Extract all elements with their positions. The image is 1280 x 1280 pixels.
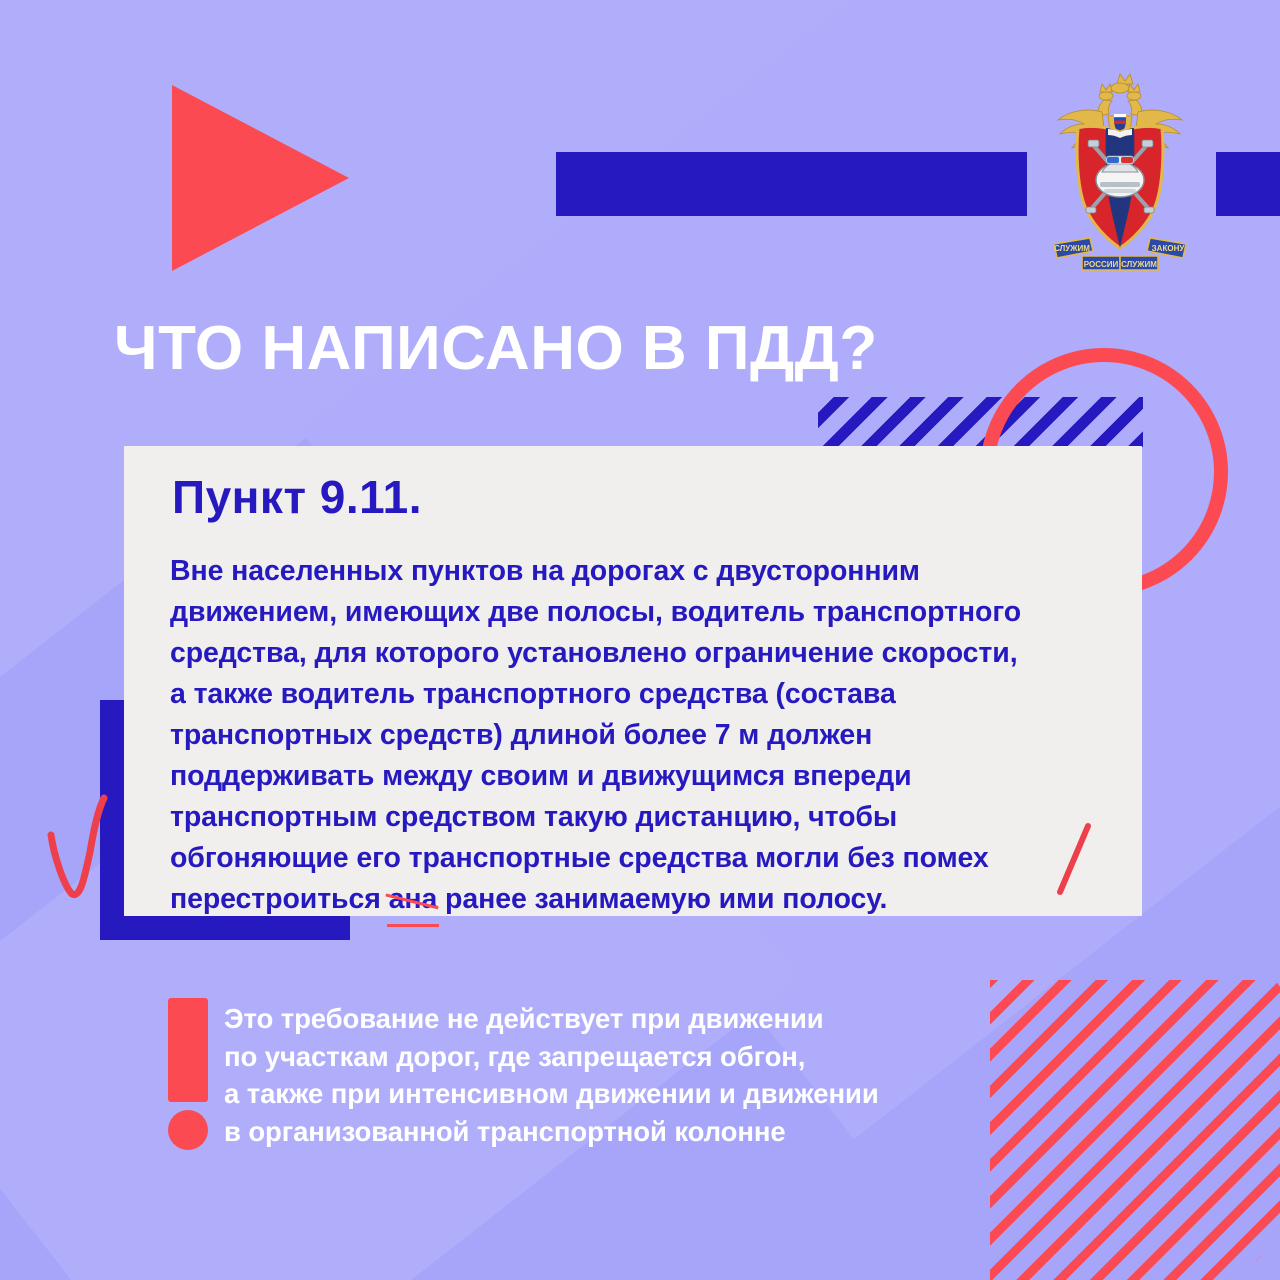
note-line: а также при интенсивном движении и движе… [224, 1075, 1084, 1113]
body-line-suffix: ранее занимаемую ими полосу. [437, 883, 887, 915]
body-line: обгоняющие его транспортные средства мог… [170, 838, 1120, 879]
note-line: по участкам дорог, где запрещается обгон… [224, 1038, 1084, 1076]
body-line: Вне населенных пунктов на дорогах с двус… [170, 551, 1120, 592]
note-line: в организованной транспортной колонне [224, 1113, 1084, 1151]
body-line: транспортным средством такую дистанцию, … [170, 797, 1120, 838]
red-play-triangle-icon [172, 85, 349, 271]
body-line-last: перестроиться ана ранее занимаемую ими п… [170, 879, 1120, 920]
poster-canvas: СЛУЖИМ ЗАКОНУ РОССИИ СЛУЖИМ ЧТО НАПИСАНО… [0, 0, 1280, 1280]
body-line: а также водитель транспортного средства … [170, 674, 1120, 715]
svg-text:СЛУЖИМ: СЛУЖИМ [1121, 260, 1157, 269]
body-line-prefix: перестроиться [170, 883, 389, 915]
red-underline [387, 924, 440, 927]
blue-bar-edge-shape [1216, 152, 1280, 216]
marked-word-wrapper: ана [389, 879, 438, 920]
marked-word: ана [389, 883, 438, 915]
svg-text:ЗАКОНУ: ЗАКОНУ [1152, 244, 1186, 253]
rule-card: Пункт 9.11. Вне населенных пунктов на до… [124, 446, 1142, 916]
page-title: ЧТО НАПИСАНО В ПДД? [114, 318, 878, 380]
red-exclamation-mark-icon [168, 998, 210, 1150]
note-line: Это требование не действует при движении [224, 1000, 1084, 1038]
gibdd-emblem-icon: СЛУЖИМ ЗАКОНУ РОССИИ СЛУЖИМ [1044, 68, 1196, 274]
body-line: транспортных средств) длиной более 7 м д… [170, 715, 1120, 756]
red-checkmark-icon [44, 790, 114, 910]
footer-note: Это требование не действует при движении… [224, 1000, 1084, 1150]
rule-body-text: Вне населенных пунктов на дорогах с двус… [170, 551, 1120, 920]
rule-heading: Пункт 9.11. [172, 470, 422, 524]
svg-text:СЛУЖИМ: СЛУЖИМ [1054, 244, 1090, 253]
exclamation-bar [168, 998, 208, 1102]
body-line: движением, имеющих две полосы, водитель … [170, 592, 1120, 633]
exclamation-dot [168, 1110, 208, 1150]
red-slash-annotation-icon [1054, 822, 1094, 896]
body-line: средства, для которого установлено огран… [170, 633, 1120, 674]
svg-text:РОССИИ: РОССИИ [1084, 260, 1119, 269]
blue-bar-shape [556, 152, 1027, 216]
body-line: поддерживать между своим и движущимся вп… [170, 756, 1120, 797]
